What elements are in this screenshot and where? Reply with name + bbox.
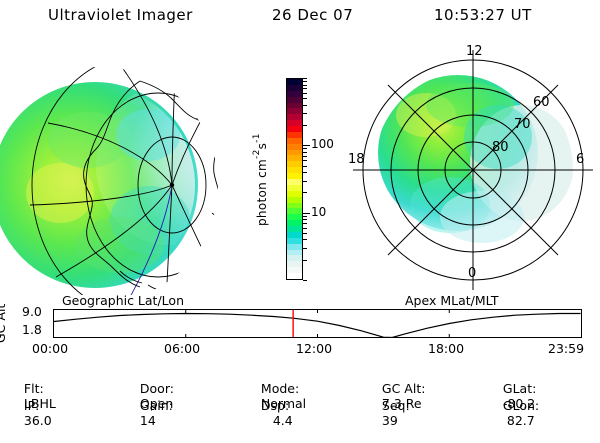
mlat-label-70: 70: [514, 117, 531, 132]
colorbar-minor-tick: [303, 152, 307, 153]
geographic-projection: [0, 45, 250, 295]
status-glon: GLon: 82.7: [487, 383, 539, 443]
colorbar-gradient: [286, 78, 303, 280]
colorbar-minor-tick: [303, 280, 307, 281]
colorbar-minor-tick: [303, 78, 307, 79]
time-label-0600: 06:00: [164, 341, 200, 356]
observation-time: 10:53:27 UT: [434, 6, 532, 24]
colorbar-minor-tick: [303, 166, 307, 167]
colorbar-minor-tick: [303, 125, 307, 126]
observation-date: 26 Dec 07: [272, 6, 353, 24]
status-glon-key: GLon:: [503, 398, 539, 413]
orbit-plot-frame: [54, 310, 582, 338]
status-seq: Seq: 39: [366, 383, 410, 443]
status-seq-value: 39: [382, 413, 398, 428]
time-label-2359: 23:59: [548, 341, 584, 356]
altitude-curve: [54, 314, 581, 338]
colorbar-minor-tick: [303, 239, 307, 240]
colorbar[interactable]: [286, 78, 303, 280]
aurora-emission-disk: [0, 82, 240, 288]
mlt-label-6: 6: [576, 152, 584, 167]
colorbar-minor-tick: [303, 192, 307, 193]
status-glon-value: 82.7: [503, 413, 535, 428]
colorbar-minor-tick: [303, 113, 307, 114]
colorbar-minor-tick: [303, 223, 307, 224]
status-dsp-key: Dsp:: [261, 398, 289, 413]
altitude-max-label: 9.0: [22, 304, 42, 319]
mlt-spokes: [353, 50, 593, 290]
colorbar-tick-label: 10: [311, 205, 326, 219]
orbit-altitude-plot[interactable]: [53, 309, 582, 338]
mlt-label-18: 18: [348, 152, 365, 167]
time-label-1200: 12:00: [296, 341, 332, 356]
colorbar-minor-tick: [303, 248, 307, 249]
mlt-mlat-dial: [350, 45, 600, 295]
status-dsp-value: 4.4: [261, 413, 293, 428]
time-label-1800: 18:00: [428, 341, 464, 356]
colorbar-minor-tick: [303, 85, 307, 86]
status-ip: IP: 36.0: [8, 383, 52, 443]
status-seq-key: Seq:: [382, 398, 410, 413]
mlt-label-12: 12: [466, 44, 483, 59]
status-gain-value: 14: [140, 413, 156, 428]
colorbar-ticks: [303, 78, 310, 280]
time-label-0000: 00:00: [32, 341, 68, 356]
mlat-label-80: 80: [492, 140, 509, 155]
status-ip-value: 36.0: [24, 413, 52, 428]
status-dsp: Dsp: 4.4: [245, 383, 293, 443]
geographic-panel-subtitle: Geographic Lat/Lon: [62, 293, 184, 308]
colorbar-minor-tick: [303, 93, 307, 94]
magnetic-dial-panel[interactable]: [350, 45, 600, 295]
colorbar-minor-tick: [303, 105, 307, 106]
colorbar-major-tick: [303, 213, 310, 214]
colorbar-minor-tick: [303, 156, 307, 157]
uvi-display-window: Ultraviolet Imager 26 Dec 07 10:53:27 UT: [0, 0, 600, 400]
geographic-image-panel[interactable]: [0, 45, 250, 295]
mlat-label-60: 60: [533, 95, 550, 110]
status-ip-key: IP:: [24, 398, 39, 413]
status-gain: Gain: 14: [124, 383, 173, 443]
colorbar-minor-tick: [303, 219, 307, 220]
altitude-min-label: 1.8: [22, 322, 42, 337]
colorbar-axis-label: photon cm-2s-1: [252, 100, 276, 260]
status-gain-key: Gain:: [140, 398, 173, 413]
colorbar-minor-tick: [303, 148, 307, 149]
magnetic-panel-subtitle: Apex MLat/MLT: [405, 293, 499, 308]
colorbar-minor-tick: [303, 98, 307, 99]
colorbar-segment: [287, 273, 302, 279]
colorbar-minor-tick: [303, 160, 307, 161]
colorbar-minor-tick: [303, 181, 307, 182]
orbit-altitude-trace: [53, 309, 582, 338]
colorbar-minor-tick: [303, 172, 307, 173]
colorbar-minor-tick: [303, 216, 307, 217]
colorbar-minor-tick: [303, 81, 307, 82]
colorbar-tick-label: 100: [311, 137, 334, 151]
colorbar-minor-tick: [303, 228, 307, 229]
colorbar-major-tick: [303, 145, 310, 146]
pole-marker: [170, 183, 174, 187]
instrument-title: Ultraviolet Imager: [48, 6, 193, 24]
colorbar-minor-tick: [303, 260, 307, 261]
colorbar-minor-tick: [303, 233, 307, 234]
colorbar-unit-main: photon cm: [255, 159, 269, 226]
mlt-label-0: 0: [468, 266, 476, 281]
colorbar-unit-mid: s: [255, 143, 269, 150]
colorbar-minor-tick: [303, 88, 307, 89]
